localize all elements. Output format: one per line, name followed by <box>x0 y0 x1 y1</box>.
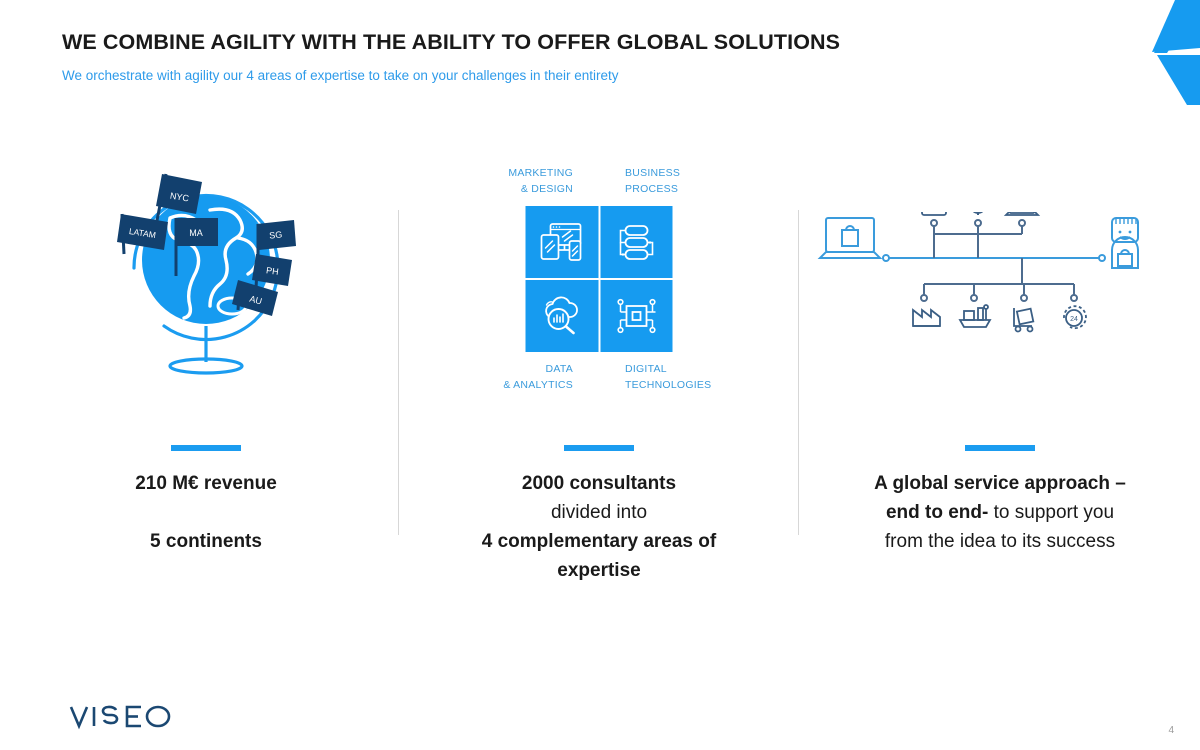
caption-line-divided-into: divided into <box>427 499 771 528</box>
slide-canvas: WE COMBINE AGILITY WITH THE ABILITY TO O… <box>0 0 1200 750</box>
quadrant-tile-digital-technologies[interactable] <box>600 280 673 352</box>
accent-bar-column-2 <box>564 445 634 451</box>
quadrant-label-marketing-design: MARKETING & DESIGN <box>469 166 599 198</box>
quadrant-label-data-analytics: DATA & ANALYTICS <box>469 362 599 394</box>
page-title: WE COMBINE AGILITY WITH THE ABILITY TO O… <box>62 30 840 55</box>
svg-text:24: 24 <box>1070 316 1078 323</box>
laptop-shopping-bag-icon <box>820 218 880 258</box>
page-subtitle: We orchestrate with agility our 4 areas … <box>62 68 619 83</box>
delivery-cart-icon <box>1014 308 1033 332</box>
responsive-devices-icon <box>537 217 587 267</box>
cloud-analytics-magnifier-icon <box>537 291 587 341</box>
quadrant-tile-business-process[interactable] <box>600 206 673 278</box>
caption-line-consultants: 2000 consultants <box>522 473 676 494</box>
caption-line-support-you: to support you <box>988 502 1114 523</box>
quadrant-label-business-process: BUSINESS PROCESS <box>599 166 729 198</box>
microchip-icon <box>611 291 661 341</box>
caption-global-service-approach: A global service approach – end to end- … <box>800 470 1200 557</box>
four-expertise-quadrants-illustration: MARKETING & DESIGN BUSINESS PROCESS <box>399 150 799 410</box>
column-areas-of-expertise: MARKETING & DESIGN BUSINESS PROCESS <box>399 150 799 620</box>
factory-icon <box>913 310 940 326</box>
caption-areas-of-expertise: 2000 consultants divided into 4 compleme… <box>399 470 799 586</box>
caption-line-idea-to-success: from the idea to its success <box>828 528 1172 557</box>
cargo-ship-icon <box>960 305 990 327</box>
gear-icon <box>966 212 990 215</box>
accent-bar-column-3 <box>965 445 1035 451</box>
viseo-logo <box>68 704 172 730</box>
svg-text:MA: MA <box>189 228 203 238</box>
end-to-end-supply-chain-illustration: 24 <box>800 150 1200 410</box>
quadrant-label-digital-technologies: DIGITAL TECHNOLOGIES <box>599 362 729 394</box>
quadrant-tile-grid <box>526 206 673 352</box>
caption-line-global-approach: A global service approach – <box>874 473 1126 494</box>
caption-line-complementary-areas: 4 complementary areas of <box>482 531 716 552</box>
payment-card-icon <box>922 212 946 215</box>
column-global-footprint: NYC LATAM MA SG <box>6 150 406 620</box>
svg-text:SG: SG <box>269 229 283 240</box>
caption-line-end-to-end: end to end- <box>886 502 988 523</box>
caption-line-revenue: 210 M€ revenue <box>135 473 277 494</box>
accent-bar-column-1 <box>171 445 241 451</box>
process-flowchart-icon <box>611 217 661 267</box>
quadrant-tile-data-analytics[interactable] <box>526 280 599 352</box>
column-global-service-approach: 24 <box>800 150 1200 620</box>
caption-line-continents: 5 continents <box>150 531 262 552</box>
caption-line-expertise: expertise <box>557 560 640 581</box>
page-number: 4 <box>1168 725 1174 736</box>
caption-global-footprint: 210 M€ revenue 5 continents <box>6 470 406 557</box>
twenty-four-hour-clock-icon: 24 <box>1064 306 1086 328</box>
svg-text:PH: PH <box>266 265 280 277</box>
globe-with-location-flags-illustration: NYC LATAM MA SG <box>6 150 406 410</box>
corner-chevron-graphic <box>1120 0 1200 105</box>
quadrant-tile-marketing-design[interactable] <box>526 206 599 278</box>
laptop-analytics-icon <box>1006 212 1038 215</box>
customer-with-bag-icon <box>1112 218 1138 268</box>
